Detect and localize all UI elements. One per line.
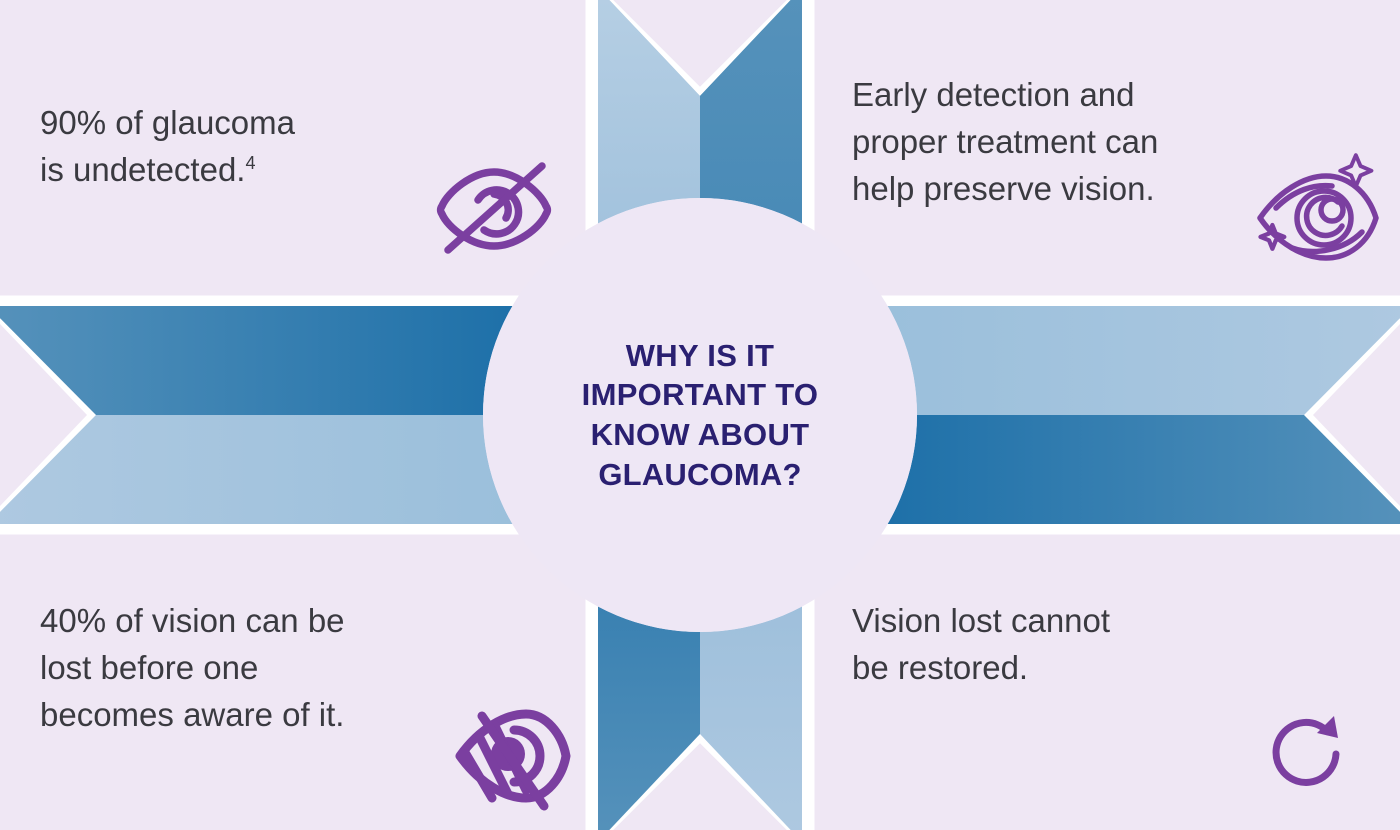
center-line-3: KNOW ABOUT	[582, 415, 819, 455]
fact-tr-line-2: proper treatment can	[852, 123, 1158, 160]
fact-tr-line-1: Early detection and	[852, 76, 1135, 113]
eye-obscured-icon	[452, 694, 572, 812]
restore-arrow-icon	[1262, 710, 1348, 800]
infographic-canvas: WHY IS IT IMPORTANT TO KNOW ABOUT GLAUCO…	[0, 0, 1400, 830]
fact-bl-line-3: becomes aware of it.	[40, 696, 344, 733]
arrow-right	[870, 302, 1400, 528]
fact-br-line-1: Vision lost cannot	[852, 602, 1110, 639]
fact-tl-line-2: is undetected.	[40, 151, 245, 188]
fact-top-left-text: 90% of glaucoma is undetected.4	[40, 100, 460, 194]
fact-tl-line-1: 90% of glaucoma	[40, 104, 295, 141]
fact-bottom-right: Vision lost cannot be restored.	[852, 598, 1252, 692]
arrow-left	[0, 302, 530, 528]
center-line-4: GLAUCOMA?	[582, 455, 819, 495]
fact-br-line-2: be restored.	[852, 649, 1028, 686]
eye-slash-icon	[432, 158, 556, 258]
fact-tr-line-3: help preserve vision.	[852, 170, 1155, 207]
fact-bottom-left: 40% of vision can be lost before one bec…	[40, 598, 470, 739]
center-line-1: WHY IS IT	[582, 336, 819, 376]
center-question-text: WHY IS IT IMPORTANT TO KNOW ABOUT GLAUCO…	[556, 336, 845, 495]
fact-bl-line-1: 40% of vision can be	[40, 602, 345, 639]
fact-tl-footnote: 4	[245, 153, 255, 173]
fact-bl-line-2: lost before one	[40, 649, 258, 686]
center-question-circle: WHY IS IT IMPORTANT TO KNOW ABOUT GLAUCO…	[483, 198, 917, 632]
eye-sparkle-icon	[1252, 140, 1382, 270]
fact-top-right: Early detection and proper treatment can…	[852, 72, 1282, 213]
fact-top-left: 90% of glaucoma is undetected.4	[40, 100, 460, 194]
center-line-2: IMPORTANT TO	[582, 375, 819, 415]
fact-bottom-right-text: Vision lost cannot be restored.	[852, 598, 1252, 692]
fact-top-right-text: Early detection and proper treatment can…	[852, 72, 1282, 213]
fact-bottom-left-text: 40% of vision can be lost before one bec…	[40, 598, 470, 739]
